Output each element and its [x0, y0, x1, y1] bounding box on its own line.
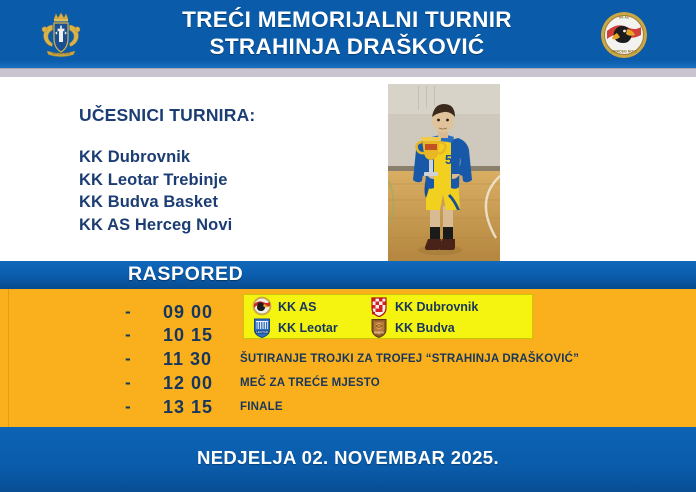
- logo-kk-as-icon: [252, 296, 272, 317]
- list-item: KK Leotar Trebinje: [79, 169, 232, 192]
- match-away-team: KK Dubrovnik: [369, 296, 529, 318]
- row-desc: MEČ ZA TREĆE MJESTO: [240, 375, 380, 391]
- match-row: KK AS KK Du: [244, 296, 534, 318]
- logo-kk-leotar-icon: LEOTAR: [252, 317, 272, 338]
- title-line-2: STRAHINJA DRAŠKOVIĆ: [112, 33, 582, 60]
- match-away-team: BUDVA KK Budva: [369, 317, 529, 339]
- row-time: 12 00: [163, 371, 213, 395]
- row-desc: ŠUTIRANJE TROJKI ZA TROFEJ “STRAHINJA DR…: [240, 351, 579, 367]
- match-row: LEOTAR KK Leotar BUDVA KK Budva: [244, 317, 534, 339]
- row-time: 09 00: [163, 300, 213, 324]
- schedule-heading-bar: RASPORED: [0, 261, 696, 289]
- row-dash: -: [125, 325, 131, 345]
- event-date: NEDJELJA 02. NOVEMBAR 2025.: [0, 447, 696, 469]
- list-item: KK AS Herceg Novi: [79, 214, 232, 237]
- header-divider: [0, 68, 696, 77]
- row-time: 10 15: [163, 323, 213, 347]
- team-name: KK Budva: [395, 319, 455, 337]
- title-line-1: TREĆI MEMORIJALNI TURNIR: [182, 7, 512, 32]
- svg-text:BUDVA: BUDVA: [374, 330, 384, 334]
- player-photo: 5: [388, 84, 500, 262]
- participants-list: KK Dubrovnik KK Leotar Trebinje KK Budva…: [79, 146, 232, 236]
- svg-text:LEOTAR: LEOTAR: [256, 330, 269, 334]
- club-emblem-icon: HERCEG NOVI KK AS: [600, 11, 648, 59]
- row-dash: -: [125, 349, 131, 369]
- row-dash: -: [125, 373, 131, 393]
- svg-text:KK AS: KK AS: [619, 16, 629, 20]
- row-desc: FINALE: [240, 399, 283, 415]
- list-item: KK Dubrovnik: [79, 146, 232, 169]
- poster-footer: NEDJELJA 02. NOVEMBAR 2025.: [0, 427, 696, 492]
- row-dash: -: [125, 397, 131, 417]
- schedule-heading: RASPORED: [128, 263, 243, 286]
- team-name: KK Leotar: [278, 319, 338, 337]
- match-home-team: KK AS: [252, 296, 372, 318]
- team-name: KK Dubrovnik: [395, 298, 478, 316]
- team-name: KK AS: [278, 298, 316, 316]
- list-item: KK Budva Basket: [79, 191, 232, 214]
- poster-title: TREĆI MEMORIJALNI TURNIR STRAHINJA DRAŠK…: [112, 6, 582, 60]
- coat-of-arms-icon: HERCEG NOVI: [34, 10, 88, 60]
- row-time: 11 30: [163, 347, 212, 371]
- tournament-poster: HERCEG NOVI TREĆI MEMORIJALNI TURNIR STR…: [0, 0, 696, 492]
- schedule-row: - 12 00 MEČ ZA TREĆE MJESTO: [0, 371, 696, 395]
- poster-header: HERCEG NOVI TREĆI MEMORIJALNI TURNIR STR…: [0, 0, 696, 68]
- svg-text:HERCEG NOVI: HERCEG NOVI: [52, 51, 70, 55]
- match-highlight-box: KK AS KK Du: [243, 294, 533, 339]
- match-home-team: LEOTAR KK Leotar: [252, 317, 372, 339]
- row-time: 13 15: [163, 395, 213, 419]
- svg-text:HERCEG NOVI: HERCEG NOVI: [611, 50, 636, 54]
- schedule-row: - 11 30 ŠUTIRANJE TROJKI ZA TROFEJ “STRA…: [0, 347, 696, 371]
- row-dash: -: [125, 302, 131, 322]
- logo-kk-budva-icon: BUDVA: [369, 317, 389, 338]
- logo-kk-dubrovnik-icon: [369, 296, 389, 317]
- schedule-row: - 13 15 FINALE: [0, 395, 696, 419]
- participants-heading: UČESNICI TURNIRA:: [79, 105, 255, 126]
